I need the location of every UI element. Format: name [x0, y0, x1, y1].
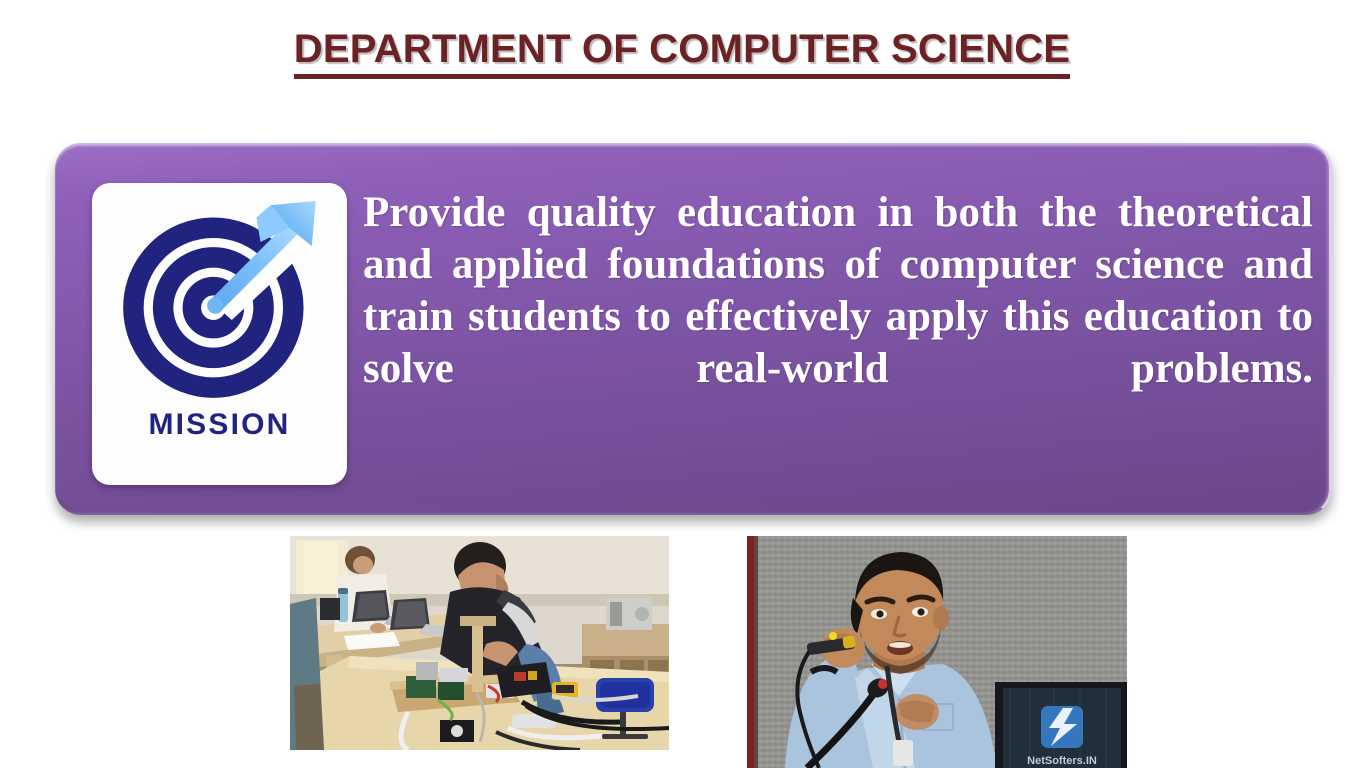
- mission-statement-text: Provide quality education in both the th…: [363, 187, 1313, 447]
- laptop-logo-text: NetSofters.IN: [1027, 755, 1097, 767]
- mission-card-label: MISSION: [148, 408, 290, 442]
- slide-root: DEPARTMENT OF COMPUTER SCIENCE: [0, 0, 1364, 768]
- photo-lab: [290, 536, 669, 750]
- page-title-container: DEPARTMENT OF COMPUTER SCIENCE: [0, 28, 1364, 79]
- arrow-tip: [207, 297, 223, 313]
- target-arrow-icon: [117, 199, 322, 404]
- mission-icon-card: MISSION: [92, 183, 347, 485]
- mission-panel: MISSION Provide quality education in bot…: [55, 143, 1332, 515]
- page-title: DEPARTMENT OF COMPUTER SCIENCE: [294, 28, 1070, 79]
- photo-presenter: NetSofters.IN: [747, 536, 1127, 768]
